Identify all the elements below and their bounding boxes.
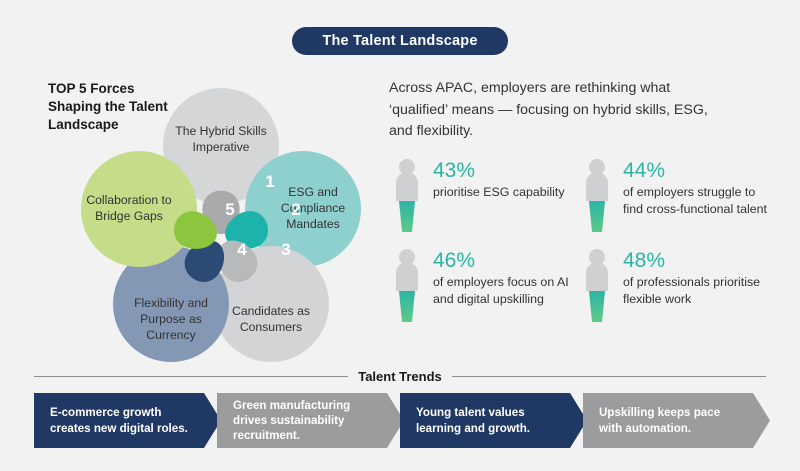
inner-petals-group [55, 88, 360, 346]
force-number-1: 1 [258, 172, 282, 192]
trend-chevron-1[interactable]: E-commerce growth creates new digital ro… [34, 393, 221, 448]
stat-description: of professionals prioritise flexible wor… [623, 274, 770, 308]
divider-left [34, 376, 348, 377]
trend-text: Young talent values learning and growth. [400, 405, 587, 436]
divider-right [452, 376, 766, 377]
trend-text: Green manufacturing drives sustainabilit… [217, 398, 404, 444]
talent-trends-header: Talent Trends [34, 369, 766, 384]
person-icon [390, 158, 424, 234]
stat-description: prioritise ESG capability [433, 184, 565, 201]
stat-percent: 48% [623, 250, 770, 272]
trend-text: Upskilling keeps pace with automation. [583, 405, 770, 436]
trend-chevron-4[interactable]: Upskilling keeps pace with automation. [583, 393, 770, 448]
force-number-3: 3 [274, 240, 298, 260]
trend-chevron-2[interactable]: Green manufacturing drives sustainabilit… [217, 393, 404, 448]
force-number-2: 2 [284, 200, 308, 220]
trend-chevron-3[interactable]: Young talent values learning and growth. [400, 393, 587, 448]
person-icon [580, 158, 614, 234]
stat-item-46: 46% of employers focus on AI and digital… [390, 248, 570, 324]
talent-trends-list: E-commerce growth creates new digital ro… [34, 393, 766, 448]
top-5-forces-diagram: The Hybrid Skills Imperative ESG and Com… [55, 88, 360, 346]
person-icon [390, 248, 424, 324]
force-number-4: 4 [230, 240, 254, 260]
stat-percent: 43% [433, 160, 565, 182]
force-number-5: 5 [218, 200, 242, 220]
page-title: The Talent Landscape [292, 27, 508, 55]
stat-item-44: 44% of employers struggle to find cross-… [580, 158, 770, 234]
stat-description: of employers struggle to find cross-func… [623, 184, 770, 218]
person-icon [580, 248, 614, 324]
trend-text: E-commerce growth creates new digital ro… [34, 405, 221, 436]
stat-item-48: 48% of professionals prioritise flexible… [580, 248, 770, 324]
stat-description: of employers focus on AI and digital ups… [433, 274, 570, 308]
stat-percent: 44% [623, 160, 770, 182]
talent-trends-title: Talent Trends [348, 369, 452, 384]
stat-percent: 46% [433, 250, 570, 272]
stat-item-43: 43% prioritise ESG capability [390, 158, 570, 234]
intro-text: Across APAC, employers are rethinking wh… [389, 78, 729, 143]
